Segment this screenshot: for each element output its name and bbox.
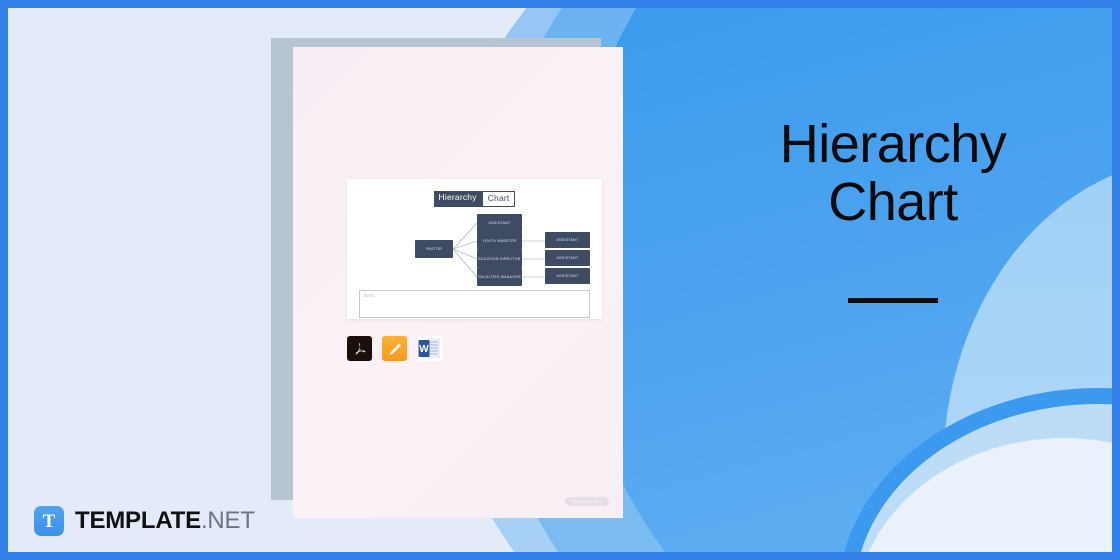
note-label: NOTE: bbox=[364, 294, 375, 298]
pages-glyph bbox=[386, 340, 404, 358]
page-title-line-2: Chart bbox=[753, 174, 1033, 232]
org-node-facilities-manager[interactable]: FACILITIES MANAGER bbox=[477, 268, 522, 286]
org-node-youth-minister[interactable]: YOUTH MINISTER bbox=[477, 232, 522, 250]
file-format-list: W bbox=[347, 336, 442, 361]
banner-inner-frame: Hierarchy Chart bbox=[8, 8, 1112, 552]
chart-title-light: Chart bbox=[482, 191, 516, 207]
pages-icon[interactable] bbox=[382, 336, 407, 361]
svg-text:W: W bbox=[419, 344, 429, 355]
org-node-education-director[interactable]: EUCATION DIRECTOR bbox=[477, 250, 522, 268]
brand-logo[interactable]: T TEMPLATE.NET bbox=[34, 506, 255, 536]
brand-tld: .NET bbox=[201, 507, 255, 534]
page-title: Hierarchy Chart bbox=[753, 116, 1033, 232]
word-glyph: W bbox=[417, 336, 442, 361]
org-node-assistant-1[interactable]: ASSISTANT bbox=[477, 214, 522, 232]
promo-banner: Hierarchy Chart bbox=[0, 0, 1120, 560]
chart-title: Hierarchy Chart bbox=[434, 191, 516, 207]
brand-wordmark: TEMPLATE.NET bbox=[75, 509, 255, 533]
org-node-pastor[interactable]: PASTOR bbox=[415, 240, 453, 258]
brand-badge-icon: T bbox=[34, 506, 64, 536]
document-preview[interactable]: Hierarchy Chart bbox=[293, 47, 623, 518]
brand-name: TEMPLATE bbox=[75, 507, 201, 534]
document-watermark: TEMPLATE.NET bbox=[565, 497, 609, 506]
org-node-assistant-4[interactable]: ASSISTANT bbox=[545, 268, 590, 284]
note-field[interactable]: NOTE: bbox=[359, 290, 590, 318]
chart-card: Hierarchy Chart bbox=[347, 179, 602, 319]
org-node-assistant-2[interactable]: ASSISTANT bbox=[545, 232, 590, 248]
title-underline-rule bbox=[848, 298, 938, 303]
org-node-assistant-3[interactable]: ASSISTANT bbox=[545, 250, 590, 266]
pdf-icon[interactable] bbox=[347, 336, 372, 361]
pdf-glyph bbox=[352, 341, 368, 357]
org-chart: PASTOR ASSISTANT YOUTH MINISTER EUCATION… bbox=[347, 207, 602, 292]
chart-title-dark: Hierarchy bbox=[434, 191, 482, 207]
word-icon[interactable]: W bbox=[417, 336, 442, 361]
page-title-line-1: Hierarchy bbox=[753, 116, 1033, 174]
